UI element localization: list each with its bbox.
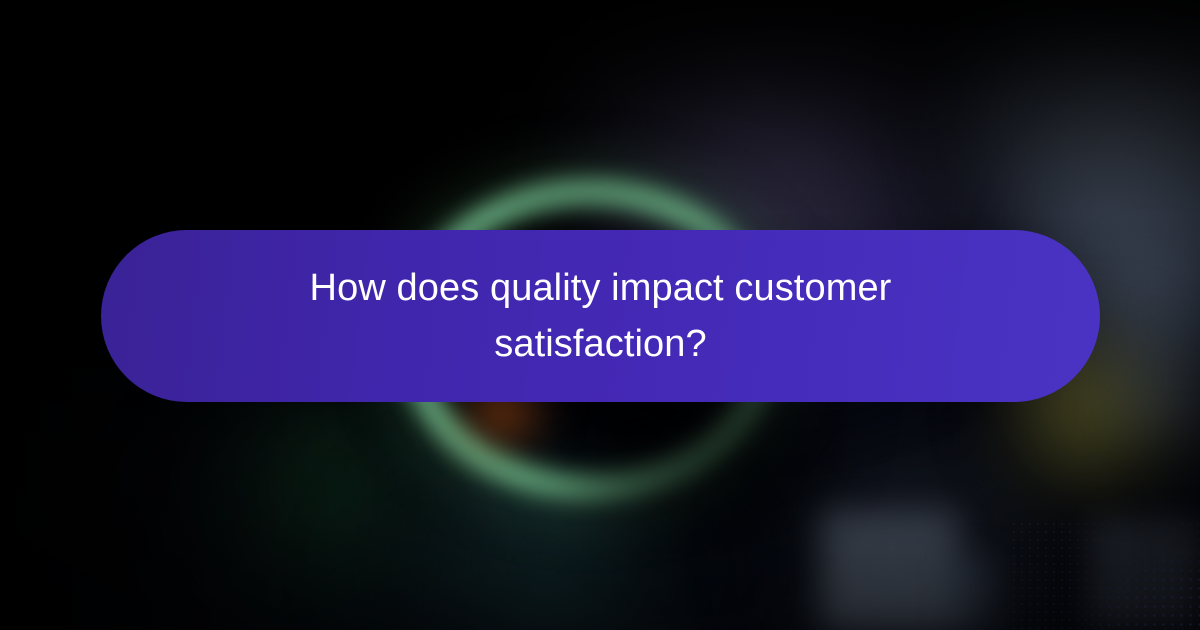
dot-grid-top-left bbox=[0, 0, 86, 80]
blurred-panel-a bbox=[822, 512, 958, 630]
question-text: How does quality impact customer satisfa… bbox=[221, 260, 981, 372]
blurred-panel-c bbox=[952, 556, 994, 630]
question-card-canvas: How does quality impact customer satisfa… bbox=[0, 0, 1200, 630]
question-pill: How does quality impact customer satisfa… bbox=[101, 230, 1100, 402]
dot-grid-bottom-right bbox=[1078, 548, 1200, 630]
blurred-panel-right bbox=[1118, 250, 1200, 430]
teal-blob-bottom bbox=[330, 470, 750, 630]
green-blob-left bbox=[150, 390, 490, 630]
